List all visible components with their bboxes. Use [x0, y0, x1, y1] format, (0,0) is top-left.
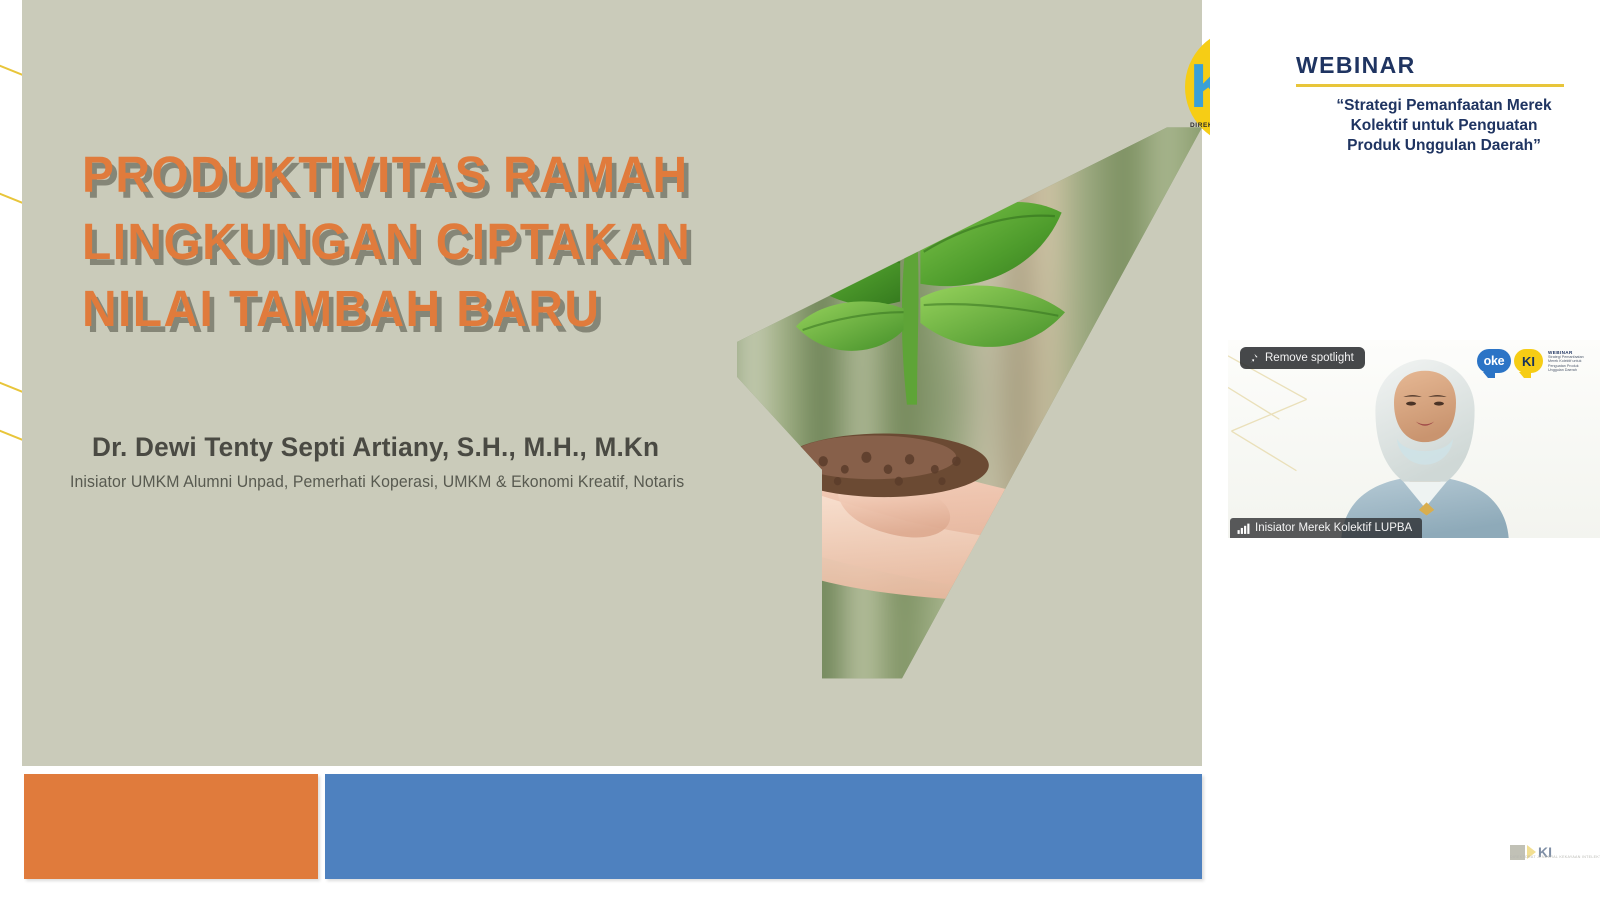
webinar-title-underline: [1296, 84, 1564, 87]
participant-avatar: [1332, 350, 1518, 538]
signal-bars-icon: [1237, 523, 1250, 534]
participant-name-label: Inisiator Merek Kolektif LUPBA: [1255, 522, 1412, 534]
right-side-panel: WEBINAR “Strategi Pemanfaatan Merek Kole…: [1210, 0, 1600, 899]
webinar-header: WEBINAR “Strategi Pemanfaatan Merek Kole…: [1296, 52, 1596, 157]
participant-video-tile[interactable]: oke KI WEBINAR Strategi Pemanfaatan Mere…: [1228, 340, 1600, 538]
slide-title: PRODUKTIVITAS RAMAH LINGKUNGAN CIPTAKAN …: [82, 142, 731, 342]
presenter-name: Dr. Dewi Tenty Septi Artiany, S.H., M.H.…: [92, 432, 659, 463]
slide-title-line-2: LINGKUNGAN CIPTAKAN: [82, 209, 731, 276]
ki-bubble: KI: [1514, 349, 1543, 373]
remove-spotlight-label: Remove spotlight: [1265, 352, 1354, 364]
webinar-subtitle-line-2: Kolektif untuk Penguatan: [1296, 116, 1592, 136]
footer-block-blue: [325, 774, 1202, 879]
oke-bubble: oke: [1477, 349, 1511, 373]
webinar-subtitle-line-3: Produk Unggulan Daerah”: [1296, 136, 1592, 156]
hands-holding-seedling-photo: [702, 110, 1202, 690]
participant-name-strip: Inisiator Merek Kolektif LUPBA: [1230, 518, 1422, 538]
slide-canvas: PRODUKTIVITAS RAMAH LINGKUNGAN CIPTAKAN …: [22, 0, 1202, 766]
okeki-overlay-line-2: Strategi Pemanfaatan Merek Kolektif untu…: [1548, 355, 1592, 372]
okeki-overlay-logo: oke KI WEBINAR Strategi Pemanfaatan Mere…: [1477, 349, 1592, 373]
presenter-role: Inisiator UMKM Alumni Unpad, Pemerhati K…: [70, 473, 684, 492]
shared-slide-region[interactable]: PRODUKTIVITAS RAMAH LINGKUNGAN CIPTAKAN …: [0, 0, 1210, 899]
slide-title-line-1: PRODUKTIVITAS RAMAH: [82, 142, 731, 209]
remove-spotlight-button[interactable]: Remove spotlight: [1240, 347, 1365, 369]
webinar-subtitle: “Strategi Pemanfaatan Merek Kolektif unt…: [1296, 96, 1596, 157]
djki-watermark: KI DIREKTORAT JENDERAL KEKAYAAN INTELEKT…: [1510, 838, 1576, 866]
pin-icon: [1248, 352, 1259, 365]
webinar-subtitle-line-1: “Strategi Pemanfaatan Merek: [1296, 96, 1592, 116]
okeki-overlay-text: WEBINAR Strategi Pemanfaatan Merek Kolek…: [1548, 350, 1592, 372]
webinar-title: WEBINAR: [1296, 52, 1596, 79]
watermark-caption: DIREKTORAT JENDERAL KEKAYAAN INTELEKTUAL: [1510, 855, 1600, 859]
ki-logo-glyph: KI: [1190, 56, 1210, 118]
screen-share-view: PRODUKTIVITAS RAMAH LINGKUNGAN CIPTAKAN …: [0, 0, 1600, 899]
ki-logo-letter-k: K: [1190, 52, 1210, 121]
ki-logo-caption: DIREKTORAT JENDERAL KEKAYAAN INTELEKTUAL: [1190, 122, 1210, 129]
footer-block-orange: [24, 774, 318, 879]
seedling-plant: [732, 145, 1102, 412]
slide-title-line-3: NILAI TAMBAH BARU: [82, 276, 731, 343]
